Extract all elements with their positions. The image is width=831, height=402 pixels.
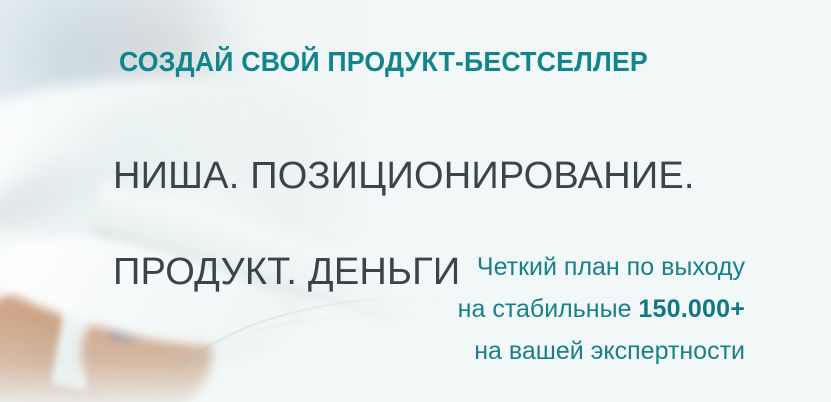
subtext-line-3: на вашей экспертности: [325, 330, 745, 372]
subtext-line-2-prefix: на стабильные: [458, 295, 639, 323]
highlight-amount: 150.000+: [638, 295, 745, 323]
subtext-line-1: Четкий план по выходу: [325, 246, 745, 288]
banner-content: СОЗДАЙ СВОЙ ПРОДУКТ-БЕСТСЕЛЛЕР НИША. ПОЗ…: [0, 0, 831, 402]
subtext-line-2: на стабильные 150.000+: [325, 288, 745, 330]
eyebrow-text: СОЗДАЙ СВОЙ ПРОДУКТ-БЕСТСЕЛЛЕР: [119, 46, 648, 78]
promo-banner: СОЗДАЙ СВОЙ ПРОДУКТ-БЕСТСЕЛЛЕР НИША. ПОЗ…: [0, 0, 831, 402]
headline-line-1: НИША. ПОЗИЦИОНИРОВАНИЕ.: [113, 152, 695, 200]
subtext-block: Четкий план по выходу на стабильные 150.…: [325, 246, 745, 372]
